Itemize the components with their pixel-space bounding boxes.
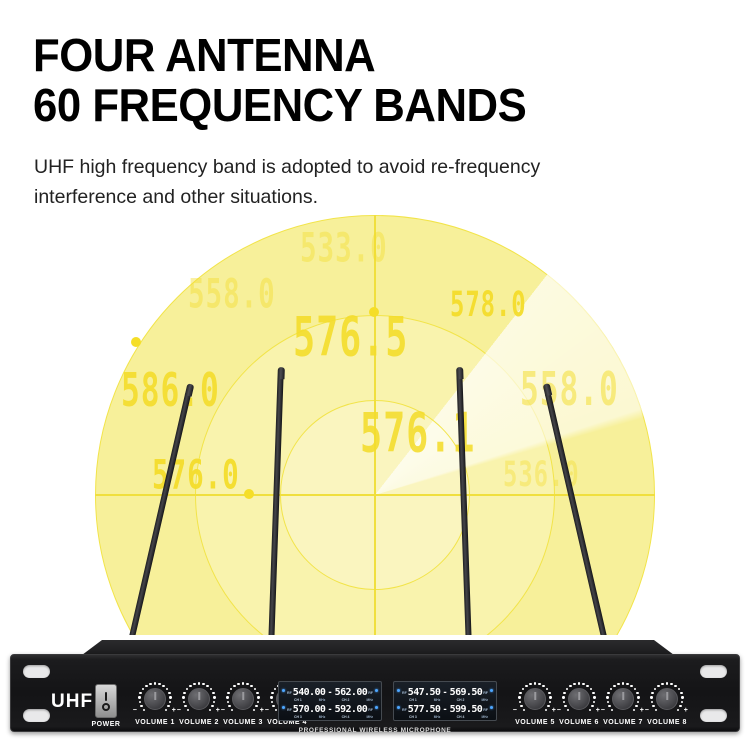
volume-knob-1-minus-icon: − [130, 707, 140, 714]
display-separator: - [443, 704, 446, 715]
rack-ear-hole-top-right [700, 665, 727, 678]
rf-indicator-label: RF [287, 708, 292, 712]
radar-readout-558-upper: 558.0 [188, 271, 276, 318]
channel-frequency-value: 570.00 [293, 705, 326, 715]
display-row-1: RF540.00CH 1MHz-562.00CH 2MHzRF [282, 684, 378, 701]
volume-knob-4-plus-icon: + [681, 707, 691, 714]
power-switch[interactable] [95, 684, 117, 718]
signal-led-icon [490, 689, 493, 692]
display-row-2: RF570.00CH 3MHz-592.00CH 4MHzRF [282, 701, 378, 718]
display-channel-cell: 599.50CH 4MHzRF [450, 705, 488, 715]
display-row-1: RF547.50CH 1MHz-569.50CH 2MHzRF [397, 684, 493, 701]
power-on-icon [105, 692, 108, 701]
channel-label: CH 1 [294, 698, 302, 702]
channel-label: CH 2 [342, 698, 350, 702]
display-row-2: RF577.50CH 3MHz-599.50CH 4MHzRF [397, 701, 493, 718]
knob-pointer-icon [622, 692, 624, 700]
subheadline-line-1: UHF high frequency band is adopted to av… [34, 152, 694, 182]
radar-blip-center-left [244, 489, 254, 499]
antenna-tip-icon [277, 367, 284, 379]
knob-pointer-icon [578, 692, 580, 700]
display-channel-cell: RF570.00CH 3MHz [287, 705, 325, 715]
subheadline-line-2: interference and other situations. [34, 182, 694, 212]
volume-knob-2-minus-icon: − [174, 707, 184, 714]
rf-indicator-label: RF [368, 708, 373, 712]
knob-body [144, 688, 166, 710]
signal-led-icon [282, 706, 285, 709]
display-right[interactable]: RF547.50CH 1MHz-569.50CH 2MHzRFRF577.50C… [393, 681, 497, 721]
channel-label: CH 4 [457, 715, 465, 719]
rf-indicator-label: RF [402, 691, 407, 695]
frequency-unit-label: MHz [481, 715, 488, 719]
antenna-tip-icon [456, 367, 463, 379]
frequency-unit-label: MHz [366, 698, 373, 702]
rf-indicator-label: RF [483, 708, 488, 712]
knob-body [612, 688, 634, 710]
volume-knob-4[interactable] [650, 682, 684, 716]
volume-knob-4-minus-icon: − [642, 707, 652, 714]
channel-label: CH 4 [342, 715, 350, 719]
rack-ear-hole-bottom-right [700, 709, 727, 722]
channel-label: CH 1 [409, 698, 417, 702]
rack-ear-hole-top-left [23, 665, 50, 678]
display-channel-cell: RF577.50CH 3MHz [402, 705, 440, 715]
display-channel-cell: 569.50CH 2MHzRF [450, 688, 488, 698]
volume-knob-1[interactable] [138, 682, 172, 716]
frequency-unit-label: MHz [481, 698, 488, 702]
volume-knob-3-minus-icon: − [218, 707, 228, 714]
radar-blip-left [131, 337, 141, 347]
power-off-icon [102, 703, 110, 711]
channel-frequency-value: 540.00 [293, 688, 326, 698]
knob-pointer-icon [154, 692, 156, 700]
radar-readout-558-right: 558.0 [520, 363, 619, 417]
knob-pointer-icon [534, 692, 536, 700]
headline-line-2: 60 FREQUENCY BANDS [33, 80, 689, 130]
rack-ear-hole-bottom-left [23, 709, 50, 722]
knob-body [656, 688, 678, 710]
display-separator: - [443, 687, 446, 698]
display-channel-cell: RF547.50CH 1MHz [402, 688, 440, 698]
rack-front-panel: UHF POWER −+VOLUME 1−+VOLUME 2−+VOLUME 3… [10, 654, 740, 732]
volume-knob-1-minus-icon: − [510, 707, 520, 714]
radar-readout-578: 578.0 [450, 285, 527, 326]
channel-label: CH 3 [409, 715, 417, 719]
channel-frequency-value: 599.50 [450, 705, 483, 715]
volume-knob-2[interactable] [182, 682, 216, 716]
rf-indicator-label: RF [368, 691, 373, 695]
display-channel-cell: 592.00CH 4MHzRF [335, 705, 373, 715]
frequency-unit-label: MHz [434, 698, 441, 702]
volume-knob-4-label: VOLUME 8 [637, 719, 697, 726]
channel-frequency-value: 562.00 [335, 688, 368, 698]
signal-led-icon [375, 689, 378, 692]
volume-knob-2-minus-icon: − [554, 707, 564, 714]
channel-label: CH 2 [457, 698, 465, 702]
frequency-unit-label: MHz [319, 715, 326, 719]
channel-frequency-value: 577.50 [408, 705, 441, 715]
channel-frequency-value: 547.50 [408, 688, 441, 698]
volume-knob-2[interactable] [562, 682, 596, 716]
signal-led-icon [375, 706, 378, 709]
model-text: PROFESSIONAL WIRELESS MICROPHONE [11, 727, 739, 734]
radar-graphic: 533.0 558.0 578.0 576.5 586.0 558.0 576.… [0, 215, 750, 635]
frequency-unit-label: MHz [319, 698, 326, 702]
display-separator: - [328, 687, 331, 698]
knob-pointer-icon [666, 692, 668, 700]
headline-line-1: FOUR ANTENNA [33, 30, 689, 80]
frequency-unit-label: MHz [434, 715, 441, 719]
display-channel-cell: RF540.00CH 1MHz [287, 688, 325, 698]
volume-knob-1[interactable] [518, 682, 552, 716]
knob-pointer-icon [198, 692, 200, 700]
knob-body [568, 688, 590, 710]
channel-frequency-value: 592.00 [335, 705, 368, 715]
display-channel-cell: 562.00CH 2MHzRF [335, 688, 373, 698]
frequency-unit-label: MHz [366, 715, 373, 719]
volume-knob-3[interactable] [606, 682, 640, 716]
rf-indicator-label: RF [287, 691, 292, 695]
channel-label: CH 3 [294, 715, 302, 719]
signal-led-icon [282, 689, 285, 692]
radar-readout-533: 533.0 [300, 225, 388, 272]
headline-block: FOUR ANTENNA 60 FREQUENCY BANDS [33, 30, 723, 130]
channel-frequency-value: 569.50 [450, 688, 483, 698]
signal-led-icon [490, 706, 493, 709]
knob-body [188, 688, 210, 710]
brand-logo: UHF [51, 691, 93, 713]
display-left[interactable]: RF540.00CH 1MHz-562.00CH 2MHzRFRF570.00C… [278, 681, 382, 721]
rf-indicator-label: RF [402, 708, 407, 712]
volume-knob-3-minus-icon: − [598, 707, 608, 714]
subheadline-block: UHF high frequency band is adopted to av… [34, 152, 694, 212]
wireless-receiver-unit: UHF POWER −+VOLUME 1−+VOLUME 2−+VOLUME 3… [0, 640, 750, 750]
display-separator: - [328, 704, 331, 715]
knob-body [524, 688, 546, 710]
signal-led-icon [397, 706, 400, 709]
rf-indicator-label: RF [483, 691, 488, 695]
volume-knob-4-minus-icon: − [262, 707, 272, 714]
volume-knob-3[interactable] [226, 682, 260, 716]
knob-pointer-icon [242, 692, 244, 700]
signal-led-icon [397, 689, 400, 692]
radar-readout-586: 586.0 [121, 364, 220, 418]
knob-body [232, 688, 254, 710]
radar-readout-576-5: 576.5 [293, 307, 408, 369]
